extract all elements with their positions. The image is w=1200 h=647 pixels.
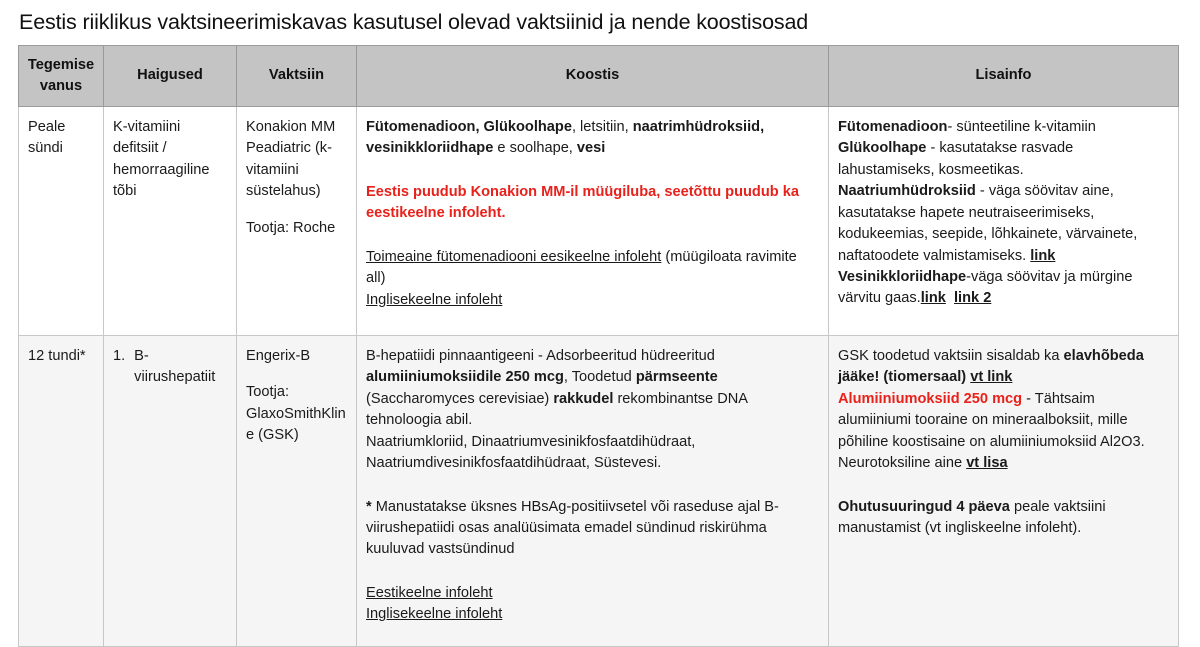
vaccine-manufacturer-label: Tootja: xyxy=(246,382,347,403)
extra-info-block: Fütomenadioon- sünteetiline k-vitamiin G… xyxy=(838,117,1169,310)
age-text: 12 tundi* xyxy=(28,346,94,367)
extra-info-block: GSK toodetud vaktsiin sisaldab ka elavhõ… xyxy=(838,346,1169,475)
footnote-text: Manustatakse üksnes HBsAg-positiivsetel … xyxy=(366,499,779,558)
link-vesinikkloriidhape-1[interactable]: link xyxy=(921,290,946,306)
link-vt-link[interactable]: vt link xyxy=(970,369,1012,385)
comp-p1-e: (Saccharomyces cerevisiae) xyxy=(366,391,553,407)
disease-list-number: 1. xyxy=(113,346,125,389)
ingredient-bold-group-1: Fütomenadioon, Glükoolhape xyxy=(366,119,572,135)
comp-p1-bold-alumiiniumoksiidile: alumiiniumoksiidile 250 mcg xyxy=(366,369,564,385)
spacer xyxy=(366,475,819,497)
vaccine-name: Konakion MM Peadiatric (k-vitamiini süst… xyxy=(246,117,347,203)
table-row: Peale sündi K-vitamiini defitsiit / hemo… xyxy=(19,106,1179,335)
disease-list-item: 1. B-viirushepatiit xyxy=(113,346,227,389)
column-header-lisainfo: Lisainfo xyxy=(829,45,1179,106)
vaccine-manufacturer: Tootja: Roche xyxy=(246,218,347,239)
cell-composition: Fütomenadioon, Glükoolhape, letsitiin, n… xyxy=(357,106,829,335)
comp-p1-c: , Toodetud xyxy=(564,369,636,385)
vaccine-table-container: Tegemise vanus Haigused Vaktsiin Koostis… xyxy=(18,45,1178,647)
cell-extra-info: Fütomenadioon- sünteetiline k-vitamiin G… xyxy=(829,106,1179,335)
spacer xyxy=(366,561,819,583)
ingredient-bold-group-3: vesi xyxy=(577,140,605,156)
extra-term-glukoolhape: Glükoolhape xyxy=(838,140,926,156)
cell-vaccine: Engerix-B Tootja: GlaxoSmithKline (GSK) xyxy=(237,335,357,646)
table-body: Peale sündi K-vitamiini defitsiit / hemo… xyxy=(19,106,1179,646)
extra-safety-study: Ohutusuuringud 4 päeva peale vaktsiini m… xyxy=(838,497,1169,540)
table-row: 12 tundi* 1. B-viirushepatiit Engerix-B … xyxy=(19,335,1179,646)
link-eestikeelne-infoleht[interactable]: Eestikeelne infoleht xyxy=(366,585,493,601)
table-header: Tegemise vanus Haigused Vaktsiin Koostis… xyxy=(19,45,1179,106)
column-header-tegemise-vanus: Tegemise vanus xyxy=(19,45,104,106)
cell-age: Peale sündi xyxy=(19,106,104,335)
link-vt-lisa[interactable]: vt lisa xyxy=(966,455,1007,471)
disease-text: K-vitamiini defitsiit / hemorraagiline t… xyxy=(113,117,227,203)
cell-extra-info: GSK toodetud vaktsiin sisaldab ka elavhõ… xyxy=(829,335,1179,646)
column-header-vaktsiin: Vaktsiin xyxy=(237,45,357,106)
composition-ingredients: Fütomenadioon, Glükoolhape, letsitiin, n… xyxy=(366,117,819,160)
comp-p1-bold-parmseente: pärmseente xyxy=(636,369,718,385)
ingredient-plain-2: e soolhape, xyxy=(493,140,577,156)
link-inglisekeelne-infoleht[interactable]: Inglisekeelne infoleht xyxy=(366,292,502,308)
page-title: Eestis riiklikus vaktsineerimiskavas kas… xyxy=(0,0,1200,37)
column-header-haigused: Haigused xyxy=(104,45,237,106)
table-header-row: Tegemise vanus Haigused Vaktsiin Koostis… xyxy=(19,45,1179,106)
link-naatriumhudroksiid[interactable]: link xyxy=(1030,248,1055,264)
cell-disease: 1. B-viirushepatiit xyxy=(104,335,237,646)
vaccine-name: Engerix-B xyxy=(246,346,347,367)
comp-p1-bold-rakkudel: rakkudel xyxy=(553,391,613,407)
spacer xyxy=(246,367,347,382)
extra-term-futomenadioon: Fütomenadioon xyxy=(838,119,947,135)
comp-p1-a: B-hepatiidi pinnaantigeeni - Adsorbeerit… xyxy=(366,348,715,364)
composition-link-line-2: Inglisekeelne infoleht xyxy=(366,604,819,625)
link-vesinikkloriidhape-2[interactable]: link 2 xyxy=(954,290,991,306)
extra-gsk-text: GSK toodetud vaktsiin sisaldab ka xyxy=(838,348,1064,364)
composition-link-line-1: Eestikeelne infoleht xyxy=(366,583,819,604)
cell-composition: B-hepatiidi pinnaantigeeni - Adsorbeerit… xyxy=(357,335,829,646)
extra-desc-futomenadioon: - sünteetiline k-vitamiin xyxy=(947,119,1095,135)
composition-link-line-2: Inglisekeelne infoleht xyxy=(366,290,819,311)
spacer xyxy=(366,160,819,182)
spacer xyxy=(366,225,819,247)
spacer xyxy=(246,203,347,218)
column-header-koostis: Koostis xyxy=(357,45,829,106)
cell-disease: K-vitamiini defitsiit / hemorraagiline t… xyxy=(104,106,237,335)
extra-term-vesinikkloriidhape: Vesinikkloriidhape xyxy=(838,269,966,285)
composition-paragraph-1: B-hepatiidi pinnaantigeeni - Adsorbeerit… xyxy=(366,346,819,432)
disease-text: B-viirushepatiit xyxy=(134,346,227,389)
ingredient-plain-1: , letsitiin, xyxy=(572,119,633,135)
extra-term-naatriumhudroksiid: Naatriumhüdroksiid xyxy=(838,183,976,199)
vaccine-manufacturer: GlaxoSmithKline (GSK) xyxy=(246,404,347,447)
composition-paragraph-2: Naatriumkloriid, Dinaatriumvesinikfosfaa… xyxy=(366,432,819,475)
cell-vaccine: Konakion MM Peadiatric (k-vitamiini süst… xyxy=(237,106,357,335)
composition-link-line-1: Toimeaine fütomenadiooni eesikeelne info… xyxy=(366,247,819,290)
link-toimeaine-infoleht[interactable]: Toimeaine fütomenadiooni eesikeelne info… xyxy=(366,249,661,265)
age-text: Peale sündi xyxy=(28,117,94,160)
composition-footnote: * Manustatakse üksnes HBsAg-positiivsete… xyxy=(366,497,819,561)
extra-term-alumiiniumoksiid: Alumiiniumoksiid 250 mcg xyxy=(838,391,1022,407)
cell-age: 12 tundi* xyxy=(19,335,104,646)
composition-warning: Eestis puudub Konakion MM-il müügiluba, … xyxy=(366,182,819,225)
safety-study-bold: Ohutusuuringud 4 päeva xyxy=(838,499,1010,515)
spacer xyxy=(838,475,1169,497)
vaccine-table: Tegemise vanus Haigused Vaktsiin Koostis… xyxy=(18,45,1179,647)
